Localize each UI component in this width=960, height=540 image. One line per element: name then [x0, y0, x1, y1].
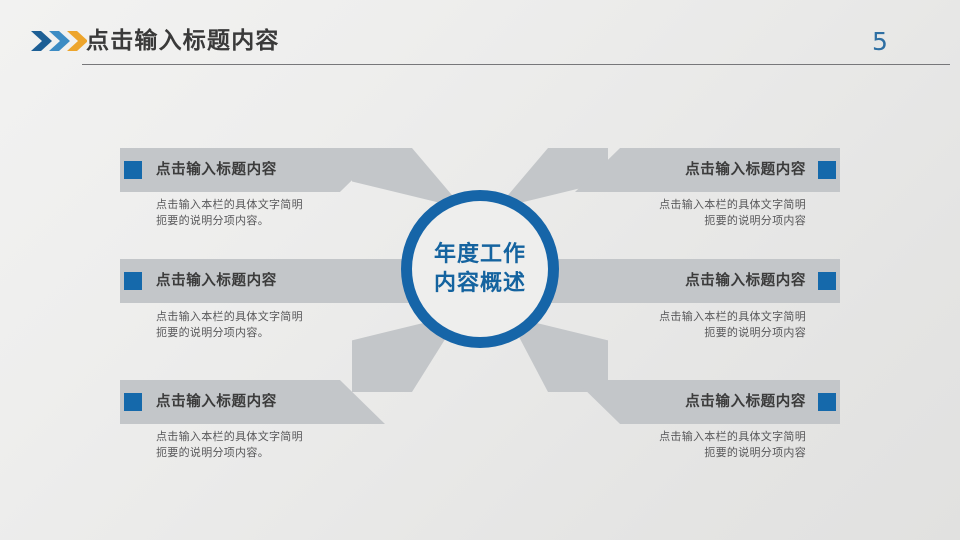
header-divider [82, 64, 950, 65]
item-body: 点击输入本栏的具体文字简明 扼要的说明分项内容。 [156, 197, 386, 229]
item-body: 点击输入本栏的具体文字简明 扼要的说明分项内容 [576, 429, 806, 461]
center-circle-label: 年度工作 内容概述 [401, 190, 559, 348]
item-title: 点击输入标题内容 [574, 159, 806, 181]
item-bullet-icon [124, 272, 142, 290]
item-body: 点击输入本栏的具体文字简明 扼要的说明分项内容。 [156, 309, 386, 341]
center-label-line2: 内容概述 [434, 269, 526, 298]
item-bullet-icon [818, 161, 836, 179]
slide-header: 点击输入标题内容 5 [0, 0, 960, 80]
page-number: 5 [872, 27, 912, 57]
item-body: 点击输入本栏的具体文字简明 扼要的说明分项内容。 [156, 429, 386, 461]
item-title: 点击输入标题内容 [156, 270, 277, 292]
item-title: 点击输入标题内容 [156, 159, 277, 181]
item-title: 点击输入标题内容 [574, 391, 806, 413]
item-bullet-icon [818, 272, 836, 290]
item-bullet-icon [124, 161, 142, 179]
item-body: 点击输入本栏的具体文字简明 扼要的说明分项内容 [576, 197, 806, 229]
item-title: 点击输入标题内容 [574, 270, 806, 292]
slide-canvas: 点击输入标题内容 5 年度工作 内容概述 点击输入标题内容 点击输入本栏的具体文… [0, 0, 960, 540]
item-title: 点击输入标题内容 [156, 391, 277, 413]
chevron-arrows-icon [31, 30, 87, 52]
item-bullet-icon [124, 393, 142, 411]
item-bullet-icon [818, 393, 836, 411]
center-label-line1: 年度工作 [434, 240, 526, 269]
item-body: 点击输入本栏的具体文字简明 扼要的说明分项内容 [576, 309, 806, 341]
page-title: 点击输入标题内容 [86, 26, 280, 56]
